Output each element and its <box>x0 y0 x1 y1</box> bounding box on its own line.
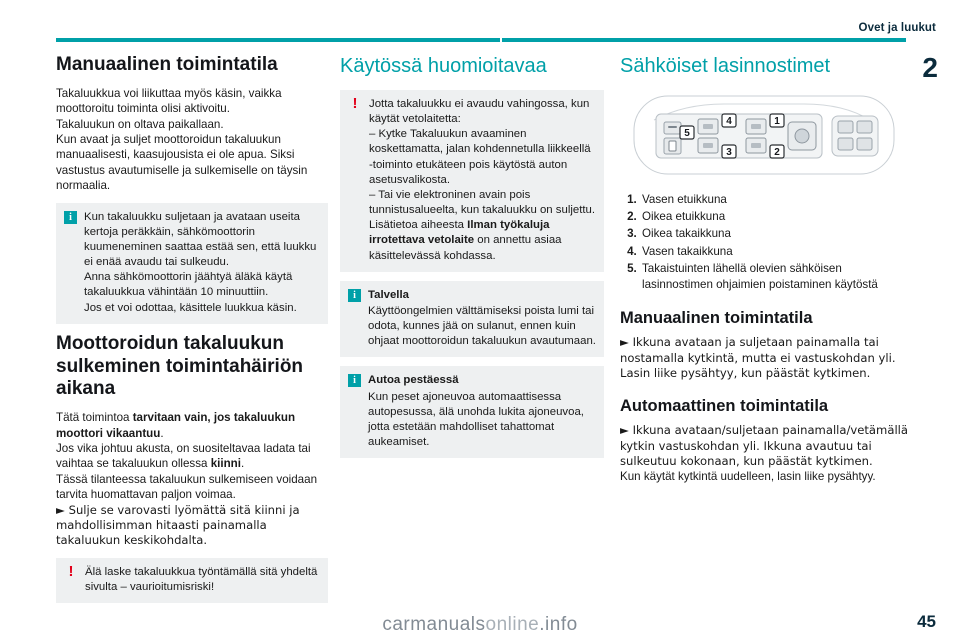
carwash-note-text: Kun peset ajoneuvoa automaattisessa auto… <box>368 390 596 451</box>
warning-note-tailgate: ! Älä laske takaluukkua työntämällä sitä… <box>56 558 328 603</box>
towbar-line-4: Lisätietoa aiheesta Ilman työkaluja irro… <box>369 218 596 263</box>
list-item: Vasen etuikkuna <box>640 192 908 208</box>
warning-note-towbar: ! Jotta takaluukku ei avaudu vahingossa,… <box>340 90 604 272</box>
list-item: Vasen takaikkuna <box>640 244 908 260</box>
info-note-line-3: Jos et voi odottaa, käsittele luukkua kä… <box>84 301 320 316</box>
watermark-part-a: carmanuals <box>382 614 485 635</box>
para-fault-1: Tätä toimintoa tarvitaan vain, jos takal… <box>56 410 328 441</box>
para-fault-2-post: . <box>241 457 244 470</box>
carwash-note-title: Autoa pestäessä <box>368 373 596 388</box>
para-windows-auto: ► Ikkuna avataan/suljetaan painamalla/ve… <box>620 423 908 469</box>
towbar-line-1: Jotta takaluukku ei avaudu vahingossa, k… <box>369 97 596 127</box>
window-switch-panel-diagram: 1 2 3 4 5 <box>620 90 908 182</box>
para-fault-2-pre: Jos vika johtuu akusta, on suositeltavaa… <box>56 442 311 470</box>
para-fault-4: ► Sulje se varovasti lyömättä sitä kiinn… <box>56 503 328 549</box>
list-item: Oikea etuikkuna <box>640 209 908 225</box>
para-fault-2: Jos vika johtuu akusta, on suositeltavaa… <box>56 441 328 472</box>
info-note-carwash: i Autoa pestäessä Kun peset ajoneuvoa au… <box>340 366 604 458</box>
para-fault-1-post: . <box>160 427 163 440</box>
para-fault-2-bold: kiinni <box>211 457 241 470</box>
info-note-winter: i Talvella Käyttöongelmien välttämiseksi… <box>340 281 604 358</box>
heading-manual-mode: Manuaalinen toimintatila <box>56 54 328 77</box>
warning-note-text: Älä laske takaluukkua työntämällä sitä y… <box>85 565 320 595</box>
para-windows-manual: ► Ikkuna avataan ja suljetaan painamalla… <box>620 335 908 381</box>
column-two: Käytössä huomioitavaa ! Jotta takaluukku… <box>340 54 604 467</box>
list-item: Takaistuinten lähellä olevien sähköisen … <box>640 261 908 293</box>
winter-note-title: Talvella <box>368 288 596 303</box>
watermark-part-c: .info <box>539 614 577 635</box>
heading-fault-close: Moottoroidun takaluukun sulkeminen toimi… <box>56 333 328 401</box>
warning-icon: ! <box>64 565 78 578</box>
watermark-part-b: online <box>486 614 540 635</box>
info-icon: i <box>64 211 77 224</box>
heading-auto-mode-windows: Automaattinen toimintatila <box>620 397 908 417</box>
page-header-title: Ovet ja luukut <box>859 22 936 34</box>
heading-in-use: Käytössä huomioitavaa <box>340 54 604 78</box>
heading-electric-windows: Sähköiset lasinnostimet <box>620 54 908 78</box>
warning-icon: ! <box>348 97 362 110</box>
chapter-number: 2 <box>922 52 938 84</box>
column-three: Sähköiset lasinnostimet <box>620 54 908 485</box>
info-note-line-1: Kun takaluukku suljetaan ja avataan usei… <box>84 210 320 271</box>
winter-note-text: Käyttöongelmien välttämiseksi poista lum… <box>368 304 596 349</box>
para-manual-3: Kun avaat ja suljet moottoroidun takaluu… <box>56 132 328 194</box>
svg-text:3: 3 <box>726 147 732 158</box>
info-icon: i <box>348 289 361 302</box>
svg-text:4: 4 <box>726 116 732 127</box>
manual-page: Ovet ja luukut 2 Manuaalinen toimintatil… <box>0 0 960 640</box>
switch-panel-svg: 1 2 3 4 5 <box>620 90 908 182</box>
window-switch-legend: Vasen etuikkuna Oikea etuikkuna Oikea ta… <box>620 192 908 293</box>
para-manual-2: Takaluukun on oltava paikallaan. <box>56 117 328 132</box>
para-fault-1-pre: Tätä toimintoa <box>56 411 133 424</box>
column-one: Manuaalinen toimintatila Takaluukkua voi… <box>56 54 328 612</box>
towbar-line-3: – Tai vie elektroninen avain pois tunnis… <box>369 188 596 218</box>
svg-text:2: 2 <box>774 147 780 158</box>
heading-manual-mode-windows: Manuaalinen toimintatila <box>620 309 908 329</box>
info-icon: i <box>348 374 361 387</box>
para-manual-1: Takaluukkua voi liikuttaa myös käsin, va… <box>56 86 328 117</box>
list-item: Oikea takaikkuna <box>640 226 908 242</box>
header-rule-left <box>56 38 500 42</box>
svg-text:1: 1 <box>774 116 780 127</box>
watermark: carmanualsonline.info <box>0 614 960 636</box>
svg-text:5: 5 <box>684 128 690 139</box>
info-note-heating: i Kun takaluukku suljetaan ja avataan us… <box>56 203 328 324</box>
info-note-line-2: Anna sähkömoottorin jäähtyä äläkä käytä … <box>84 270 320 300</box>
para-windows-auto-2: Kun käytät kytkintä uudelleen, lasin lii… <box>620 469 908 484</box>
para-fault-3: Tässä tilanteessa takaluukun sulkemiseen… <box>56 472 328 503</box>
header-rule-right <box>502 38 906 42</box>
towbar-line-2: – Kytke Takaluukun avaaminen koskettamat… <box>369 127 596 188</box>
towbar-line-4-pre: Lisätietoa aiheesta <box>369 219 467 231</box>
